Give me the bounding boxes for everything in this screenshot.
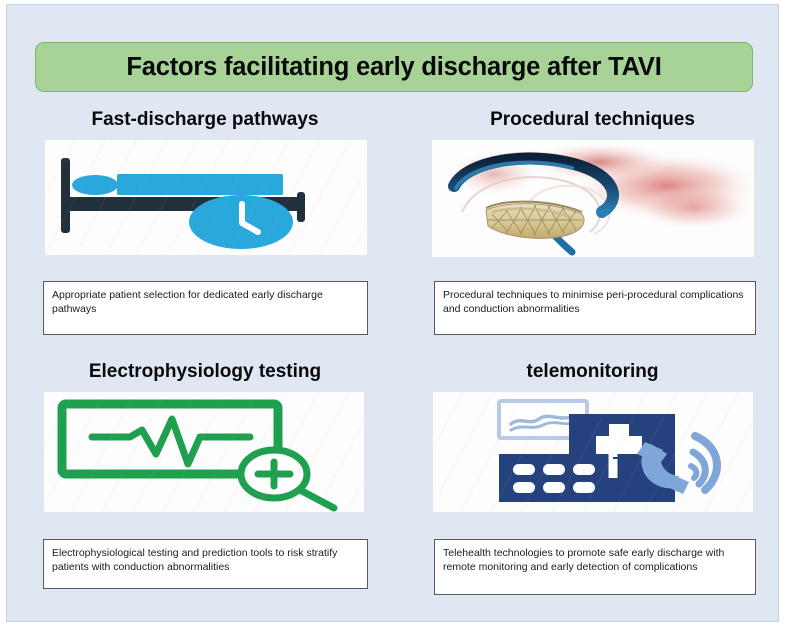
section-heading-fast-discharge-pathways: Fast-discharge pathways (40, 108, 370, 140)
quadrant-telemonitoring: telemonitoring (430, 360, 755, 512)
page-title: Factors facilitating early discharge aft… (126, 53, 661, 82)
caption-box-telemonitoring: Telehealth technologies to promote safe … (434, 539, 756, 595)
caption-box-fast-discharge-pathways: Appropriate patient selection for dedica… (43, 281, 368, 335)
hospital-bed-with-clock-icon (45, 140, 367, 255)
caption-box-procedural-techniques: Procedural techniques to minimise peri-p… (434, 281, 756, 335)
section-heading-procedural-techniques: Procedural techniques (430, 108, 755, 140)
telehealth-device-icon (433, 392, 753, 512)
caption-text: Telehealth technologies to promote safe … (443, 547, 747, 574)
infographic-poster: Factors facilitating early discharge aft… (6, 4, 779, 622)
image-panel-electrophysiology-testing (44, 392, 364, 512)
section-heading-electrophysiology-testing: Electrophysiology testing (40, 360, 370, 392)
caption-text: Procedural techniques to minimise peri-p… (443, 289, 747, 316)
image-panel-procedural-techniques (432, 140, 754, 257)
tavi-valve-deployment-icon (432, 140, 754, 257)
caption-text: Electrophysiological testing and predict… (52, 547, 359, 574)
quadrant-electrophysiology-testing: Electrophysiology testing (40, 360, 370, 512)
caption-box-electrophysiology-testing: Electrophysiological testing and predict… (43, 539, 368, 589)
quadrant-procedural-techniques: Procedural techniques (430, 108, 755, 257)
ecg-monitor-with-magnifier-icon (44, 392, 364, 512)
caption-text: Appropriate patient selection for dedica… (52, 289, 359, 316)
image-panel-telemonitoring (433, 392, 753, 512)
section-heading-telemonitoring: telemonitoring (430, 360, 755, 392)
poster-title-banner: Factors facilitating early discharge aft… (35, 42, 753, 92)
quadrant-fast-discharge-pathways: Fast-discharge pathways (40, 108, 370, 255)
image-panel-fast-discharge-pathways (45, 140, 367, 255)
